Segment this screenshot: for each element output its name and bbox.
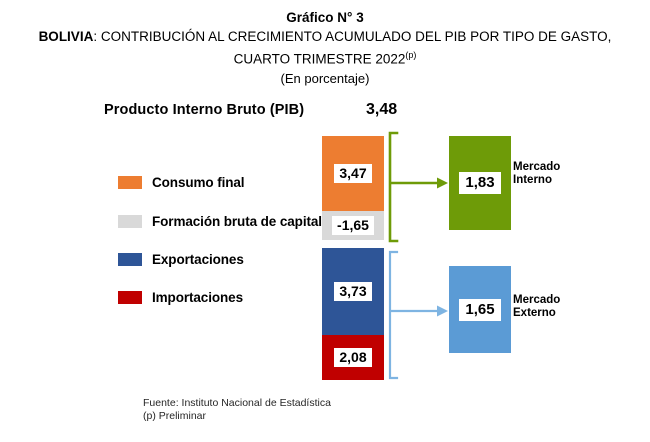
market-label-externo-line2: Externo <box>513 307 560 320</box>
pib-total-value: 3,48 <box>366 101 397 119</box>
market-value-externo: 1,65 <box>459 299 500 321</box>
bracket-mercado-interno <box>390 133 397 241</box>
market-label-externo-line1: Mercado <box>513 294 560 307</box>
legend-label-formacion-bruta: Formación bruta de capital <box>152 214 322 229</box>
bracket-mercado-externo <box>390 252 397 378</box>
preliminary-marker: (p) <box>405 50 416 60</box>
chart-main-title-rest: : CONTRIBUCIÓN AL CRECIMIENTO ACUMULADO … <box>93 29 611 44</box>
legend-label-consumo-final: Consumo final <box>152 175 244 190</box>
bar-value-consumo-final: 3,47 <box>334 164 371 183</box>
bar-value-exportaciones: 3,73 <box>334 282 371 301</box>
legend-swatch-formacion-bruta <box>118 215 142 228</box>
market-box-externo: 1,65 <box>449 266 511 353</box>
pib-heading: Producto Interno Bruto (PIB) <box>104 102 304 118</box>
legend-item-exportaciones: Exportaciones <box>118 252 244 267</box>
legend-label-importaciones: Importaciones <box>152 290 243 305</box>
legend-item-importaciones: Importaciones <box>118 290 243 305</box>
market-label-externo: Mercado Externo <box>513 294 560 320</box>
legend-swatch-consumo-final <box>118 176 142 189</box>
bar-segment-formacion-bruta: -1,65 <box>322 211 384 240</box>
chart-title-block: Gráfico N° 3 BOLIVIA: CONTRIBUCIÓN AL CR… <box>0 8 650 88</box>
arrow-head-mercado-interno <box>437 178 448 189</box>
market-label-interno: Mercado Interno <box>513 161 560 187</box>
legend-label-exportaciones: Exportaciones <box>152 252 244 267</box>
market-value-interno: 1,83 <box>459 172 500 194</box>
bar-segment-importaciones: 2,08 <box>322 335 384 380</box>
market-label-interno-line2: Interno <box>513 174 560 187</box>
bar-segment-exportaciones: 3,73 <box>322 248 384 335</box>
footer-note: (p) Preliminar <box>143 410 331 423</box>
bar-segment-consumo-final: 3,47 <box>322 136 384 211</box>
market-box-interno: 1,83 <box>449 136 511 230</box>
bar-value-importaciones: 2,08 <box>334 348 371 367</box>
legend-swatch-exportaciones <box>118 253 142 266</box>
chart-period-title: CUARTO TRIMESTRE 2022(p) <box>0 46 650 69</box>
legend-item-formacion-bruta: Formación bruta de capital <box>118 214 322 229</box>
footer-source: Fuente: Instituto Nacional de Estadístic… <box>143 397 331 410</box>
chart-main-title: BOLIVIA: CONTRIBUCIÓN AL CRECIMIENTO ACU… <box>0 27 650 46</box>
chart-number-title: Gráfico N° 3 <box>0 8 650 27</box>
bar-value-formacion-bruta: -1,65 <box>332 216 374 235</box>
chart-period-text: CUARTO TRIMESTRE 2022 <box>234 52 406 67</box>
chart-units-subtitle: (En porcentaje) <box>0 69 650 88</box>
chart-canvas: Gráfico N° 3 BOLIVIA: CONTRIBUCIÓN AL CR… <box>0 0 650 442</box>
market-label-interno-line1: Mercado <box>513 161 560 174</box>
chart-footer: Fuente: Instituto Nacional de Estadístic… <box>143 397 331 423</box>
legend-swatch-importaciones <box>118 291 142 304</box>
arrow-head-mercado-externo <box>437 306 448 317</box>
country-name: BOLIVIA <box>39 29 94 44</box>
legend-item-consumo-final: Consumo final <box>118 175 244 190</box>
